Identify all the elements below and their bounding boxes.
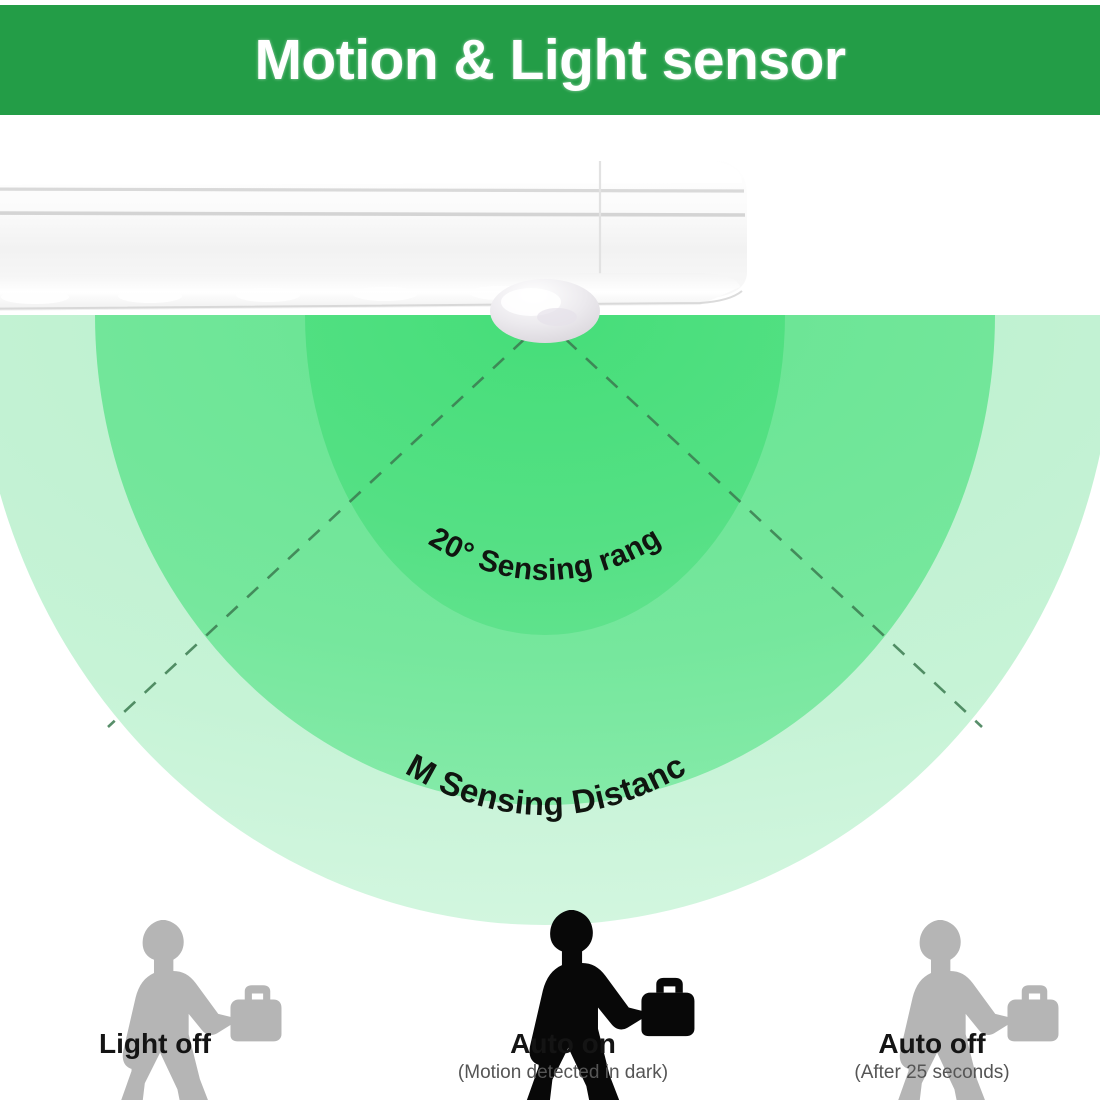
caption-subtitle: (After 25 seconds) [854,1062,1009,1085]
caption-title: Auto off [854,1028,1009,1060]
led-dot [236,288,300,302]
fixture-groove-lower [0,213,745,215]
led-dot [1,290,69,304]
briefcase [656,978,683,993]
caption-title: Auto on [458,1028,668,1060]
led-dot [353,287,417,301]
caption-light-off: Light off [99,1028,211,1062]
caption-auto-off: Auto off (After 25 seconds) [854,1028,1009,1085]
fixture-groove-upper [0,189,744,191]
header-banner: Motion & Light sensor [0,5,1100,115]
scene-graphic: 120° Sensing range 3M Sensing Distance [0,115,1100,1100]
fixture-top-highlight [0,159,742,185]
sensor-dome-lens [537,308,577,326]
led-dot [118,289,182,303]
page-title: Motion & Light sensor [254,32,845,89]
sensing-zone-group [0,315,1100,925]
caption-auto-on: Auto on (Motion detected in dark) [458,1028,668,1085]
led-light-bar [0,157,747,311]
briefcase [1022,985,1048,999]
caption-title: Light off [99,1028,211,1060]
caption-subtitle: (Motion detected in dark) [458,1062,668,1085]
caption-row: Light off Auto on (Motion detected in da… [0,1020,1100,1100]
briefcase [245,985,271,999]
motion-sensor-dome [490,279,600,343]
product-infographic: Motion & Light sensor [0,0,1100,1100]
sensor-illustration: 120° Sensing range 3M Sensing Distance [0,115,1100,1100]
